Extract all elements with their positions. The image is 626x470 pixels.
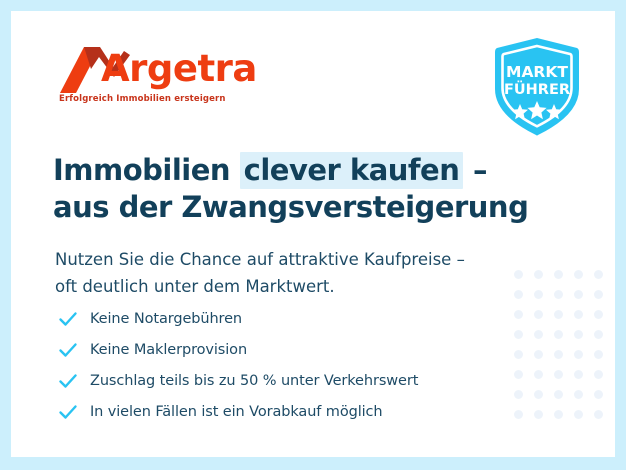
decorative-dot: [554, 370, 563, 379]
decorative-dot: [534, 370, 543, 379]
list-item: Zuschlag teils bis zu 50 % unter Verkehr…: [58, 365, 418, 396]
list-item-label: Keine Notargebühren: [90, 311, 242, 327]
decorative-dot: [514, 330, 523, 339]
list-item-label: In vielen Fällen ist ein Vorabkauf mögli…: [90, 404, 383, 420]
decorative-dot: [534, 330, 543, 339]
headline-part-pre: Immobilien: [53, 153, 240, 187]
argetra-logo[interactable]: Argetra Erfolgreich Immobilien ersteiger…: [58, 45, 248, 104]
decorative-dot: [534, 390, 543, 399]
list-item-label: Keine Maklerprovision: [90, 342, 247, 358]
decorative-dot: [534, 270, 543, 279]
banner-card: Argetra Erfolgreich Immobilien ersteiger…: [11, 11, 615, 457]
headline-line-2: aus der Zwangsversteigerung: [53, 190, 528, 224]
decorative-dot: [554, 270, 563, 279]
decorative-dot: [574, 410, 583, 419]
decorative-dot: [594, 410, 603, 419]
decorative-dot: [514, 370, 523, 379]
decorative-dot: [554, 350, 563, 359]
decorative-dot: [574, 290, 583, 299]
subheading-line-2: oft deutlich unter dem Marktwert.: [55, 277, 335, 296]
decorative-dot: [514, 290, 523, 299]
decorative-dot: [514, 350, 523, 359]
decorative-dot-grid: [509, 265, 609, 425]
decorative-dot: [534, 350, 543, 359]
decorative-dot: [594, 350, 603, 359]
markt-fuehrer-badge: MARKT FÜHRER: [494, 37, 580, 137]
decorative-dot: [574, 370, 583, 379]
logo-row: Argetra: [58, 45, 248, 93]
decorative-dot: [574, 390, 583, 399]
subheading: Nutzen Sie die Chance auf attraktive Kau…: [55, 246, 465, 300]
decorative-dot: [594, 290, 603, 299]
decorative-dot: [594, 390, 603, 399]
decorative-dot: [514, 410, 523, 419]
list-item: Keine Notargebühren: [58, 303, 418, 334]
decorative-dot: [534, 410, 543, 419]
list-item: In vielen Fällen ist ein Vorabkauf mögli…: [58, 396, 418, 427]
subheading-line-1: Nutzen Sie die Chance auf attraktive Kau…: [55, 250, 465, 269]
list-item-label: Zuschlag teils bis zu 50 % unter Verkehr…: [90, 373, 418, 389]
decorative-dot: [594, 310, 603, 319]
decorative-dot: [514, 310, 523, 319]
decorative-dot: [554, 390, 563, 399]
check-icon: [58, 402, 78, 422]
check-icon: [58, 340, 78, 360]
decorative-dot: [534, 310, 543, 319]
page-title: Immobilien clever kaufen – aus der Zwang…: [53, 152, 528, 226]
decorative-dot: [574, 310, 583, 319]
decorative-dot: [594, 330, 603, 339]
decorative-dot: [594, 270, 603, 279]
check-icon: [58, 309, 78, 329]
decorative-dot: [574, 330, 583, 339]
decorative-dot: [594, 370, 603, 379]
decorative-dot: [574, 270, 583, 279]
decorative-dot: [554, 330, 563, 339]
banner-frame: Argetra Erfolgreich Immobilien ersteiger…: [0, 0, 626, 470]
benefits-checklist: Keine Notargebühren Keine Maklerprovisio…: [58, 303, 418, 427]
decorative-dot: [534, 290, 543, 299]
decorative-dot: [514, 270, 523, 279]
headline-part-post: –: [463, 153, 487, 187]
list-item: Keine Maklerprovision: [58, 334, 418, 365]
badge-line-2: FÜHRER: [504, 80, 570, 98]
headline-line-1: Immobilien clever kaufen –: [53, 152, 487, 189]
decorative-dot: [514, 390, 523, 399]
decorative-dot: [554, 290, 563, 299]
decorative-dot: [554, 310, 563, 319]
badge-line-1: MARKT: [506, 63, 568, 81]
headline-highlight: clever kaufen: [240, 152, 464, 189]
logo-wordmark: Argetra: [101, 48, 257, 90]
decorative-dot: [554, 410, 563, 419]
check-icon: [58, 371, 78, 391]
logo-tagline: Erfolgreich Immobilien ersteigern: [59, 94, 248, 104]
decorative-dot: [574, 350, 583, 359]
